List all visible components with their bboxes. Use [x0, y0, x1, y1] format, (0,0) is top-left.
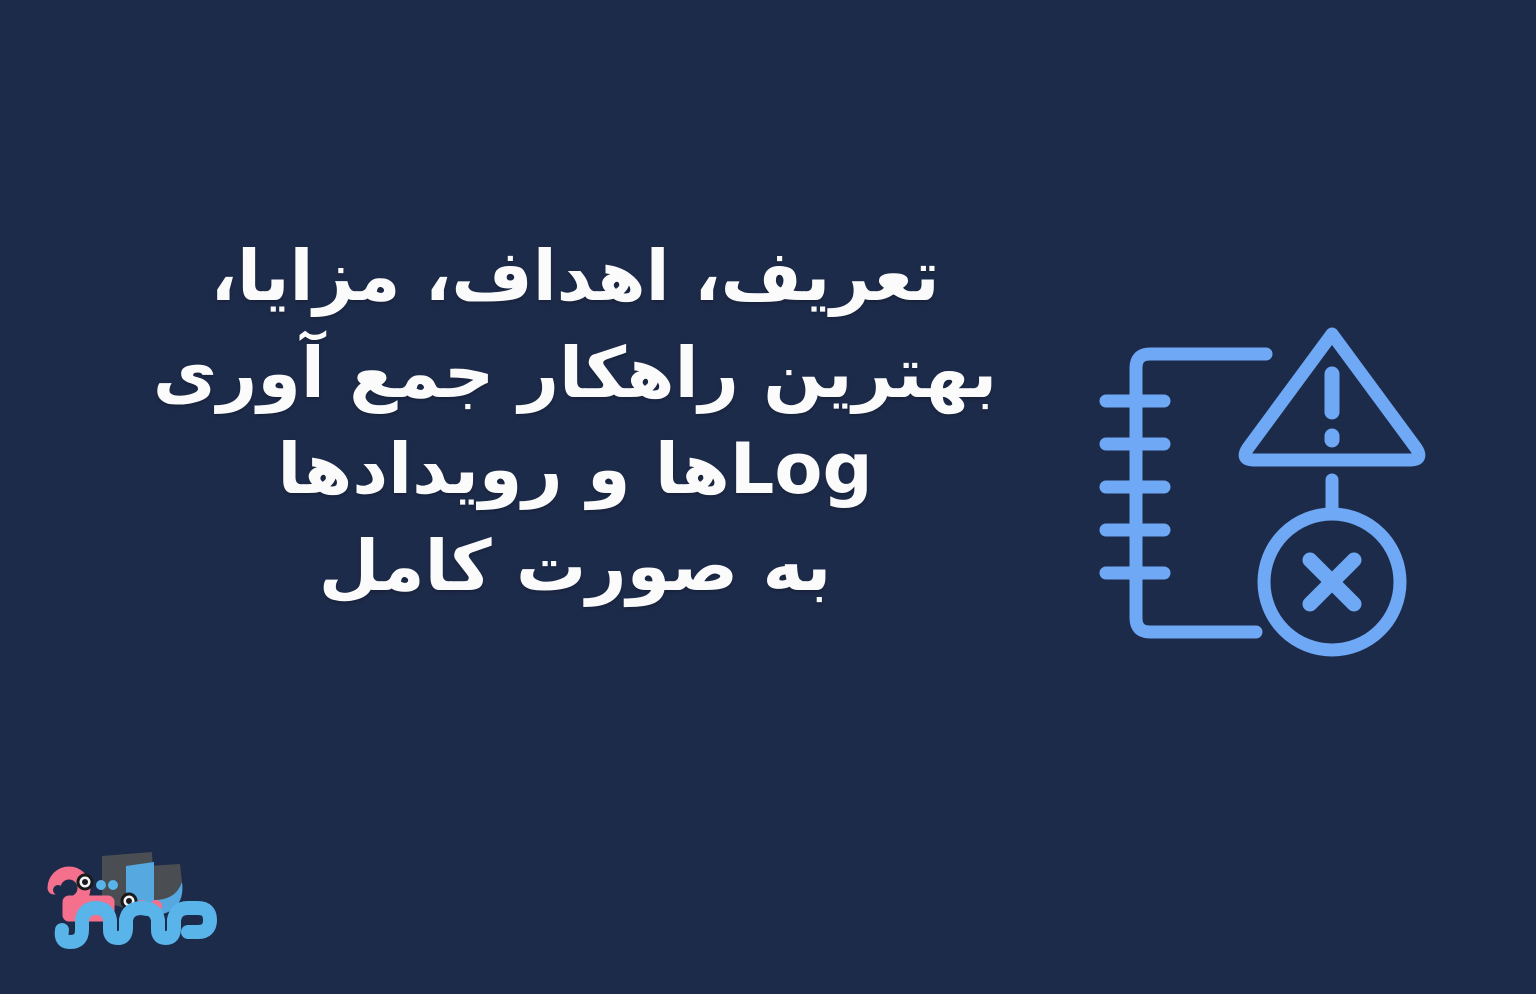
- headline-line-3-suffix: ها و رویدادها: [277, 428, 729, 510]
- banner-canvas: تعریف، اهداف، مزایا، بهترین راهکار جمع آ…: [0, 0, 1536, 994]
- log-book-error-icon: [1088, 312, 1438, 687]
- headline-line-3-latin: Log: [730, 428, 873, 510]
- brand-logo[interactable]: [30, 838, 280, 968]
- page-title: تعریف، اهداف، مزایا، بهترین راهکار جمع آ…: [120, 228, 1030, 614]
- headline-line-4: به صورت کامل: [120, 518, 1030, 615]
- headline-line-3: Logها و رویدادها: [120, 421, 1030, 518]
- headline-line-1: تعریف، اهداف، مزایا،: [120, 228, 1030, 325]
- error-circle-x-icon: [1264, 514, 1400, 650]
- headline-line-2: بهترین راهکار جمع آوری: [120, 325, 1030, 422]
- logo-wordmark: [62, 908, 210, 942]
